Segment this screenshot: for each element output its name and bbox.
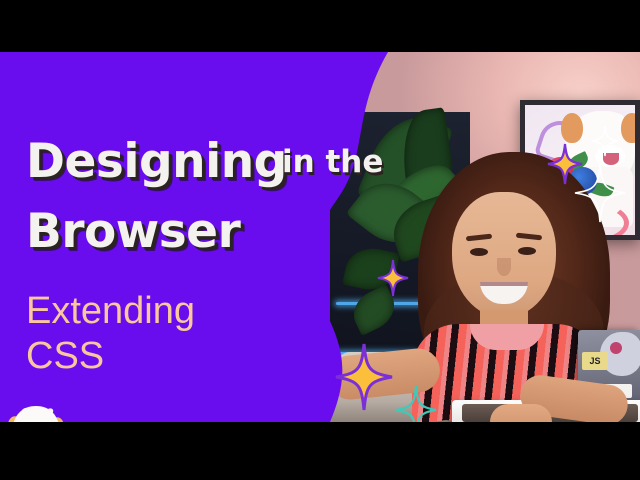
video-frame: JS Erpxie 🎮 CEN: [0, 52, 640, 422]
sparkle-art-orange-icon: [548, 144, 582, 184]
sparkle-teal-icon: [396, 386, 436, 422]
video-thumbnail: JS Erpxie 🎮 CEN: [0, 0, 640, 480]
dog-mascot-logo: [6, 404, 66, 422]
sparkle-orange-upper-icon: [378, 260, 408, 296]
letterbox-top: [0, 0, 640, 52]
sparkle-white-small-icon: [592, 126, 618, 156]
sparkle-orange-lower-icon: [336, 344, 392, 410]
letterbox-bottom: [0, 422, 640, 480]
purple-curve-overlay: [0, 52, 640, 422]
sparkle-white-large-icon: [575, 164, 625, 222]
